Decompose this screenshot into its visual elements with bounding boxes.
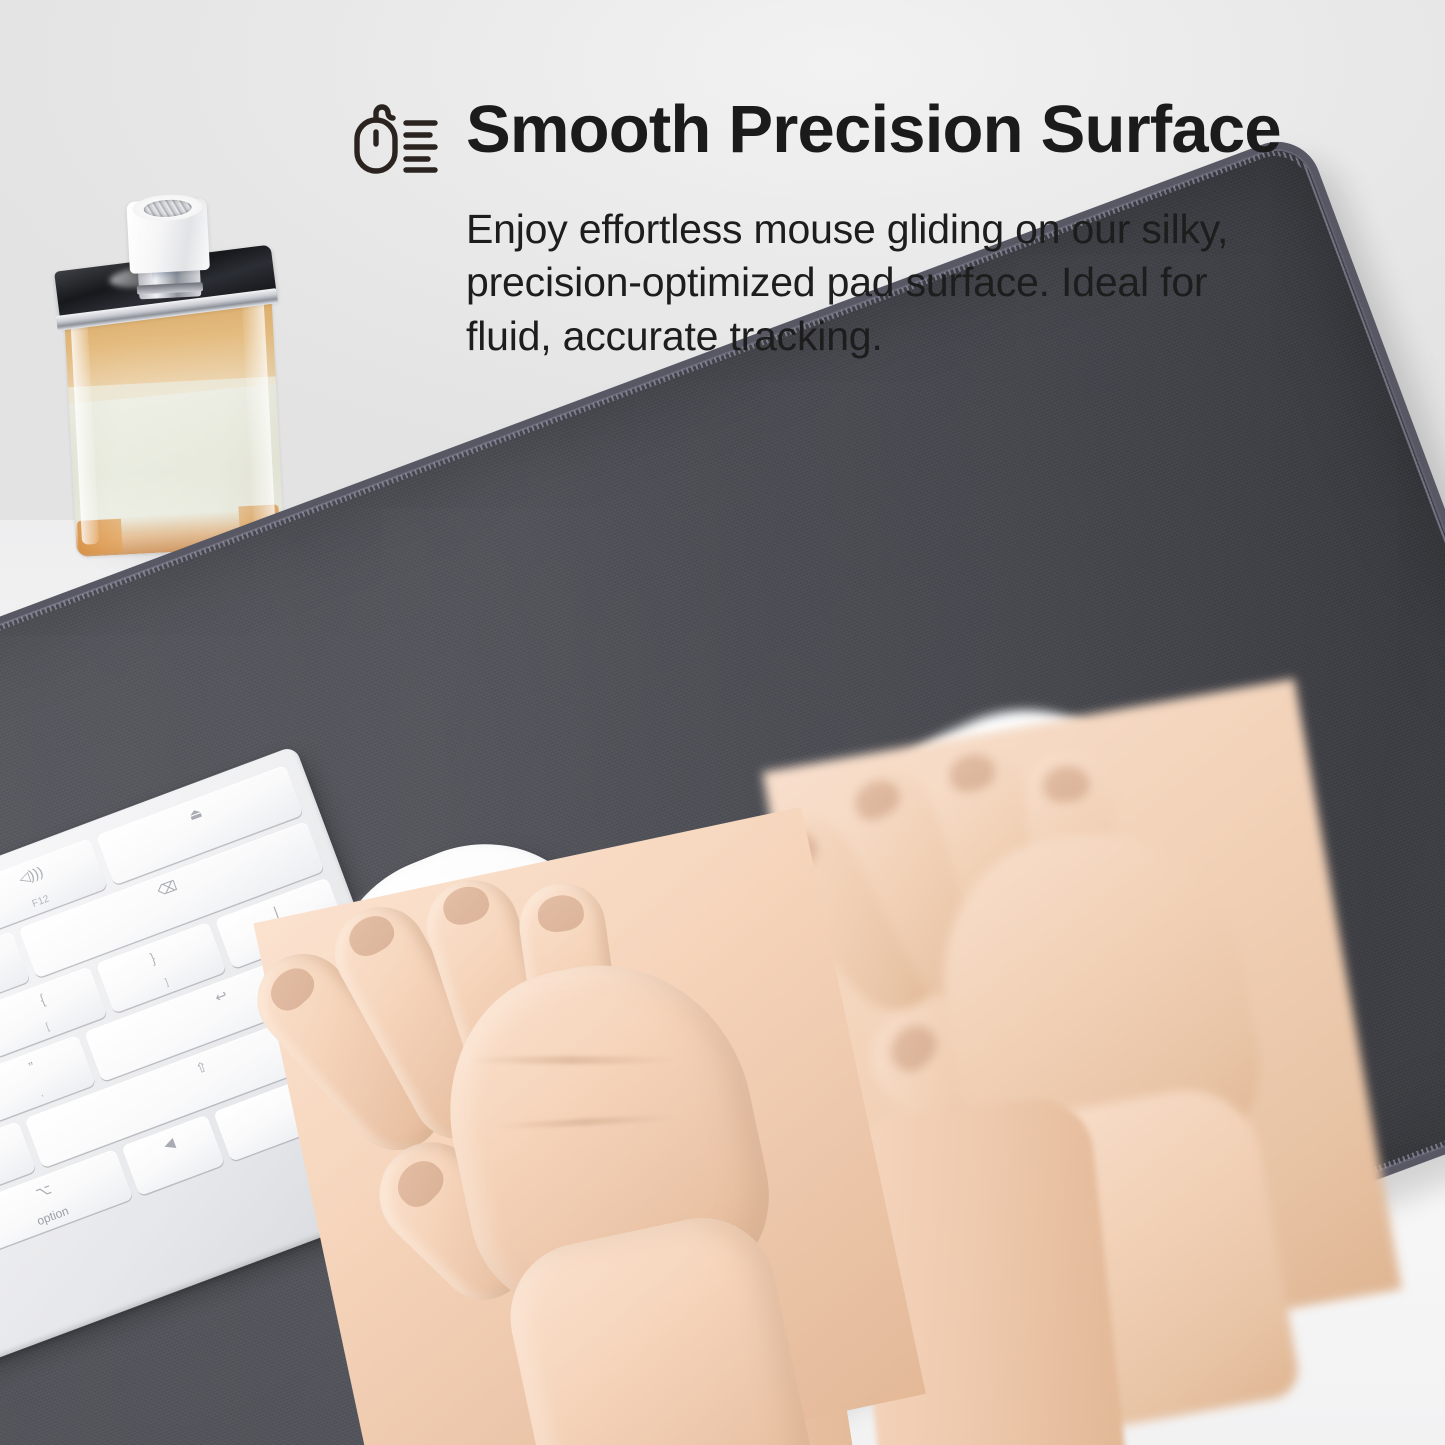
fingernail [848,773,906,826]
fingernail [263,960,321,1018]
product-banner: TERRE ◁) F10 ◁)) [0,0,1445,1445]
header-block: Smooth Precision Surface Enjoy effortles… [352,96,1400,363]
fingernail [1041,763,1091,804]
description-line-2: precision-optimized pad surface. Ideal f… [466,256,1366,309]
fingernail [438,881,493,929]
fingernail [342,909,400,963]
palm-crease [492,1114,680,1131]
description-line-3: fluid, accurate tracking. [466,310,1366,363]
page-title: Smooth Precision Surface [466,96,1281,163]
thumbnail [882,1017,944,1079]
key-sublabel: F12 [31,894,51,910]
fingernail [945,749,1000,797]
key-sublabel: ] [164,977,170,988]
palm-crease [467,1056,677,1064]
key-sublabel: , [38,1088,44,1099]
key-sublabel: [ [45,1022,51,1033]
key-glyph: ? [0,1127,25,1185]
description-line-1: Enjoy effortless mouse gliding on our si… [466,203,1366,256]
fingernail [535,892,586,934]
key-label: option [35,1204,71,1229]
feature-description: Enjoy effortless mouse gliding on our si… [466,203,1366,363]
thumbnail [389,1152,451,1214]
mouse-motion-icon [352,102,440,181]
